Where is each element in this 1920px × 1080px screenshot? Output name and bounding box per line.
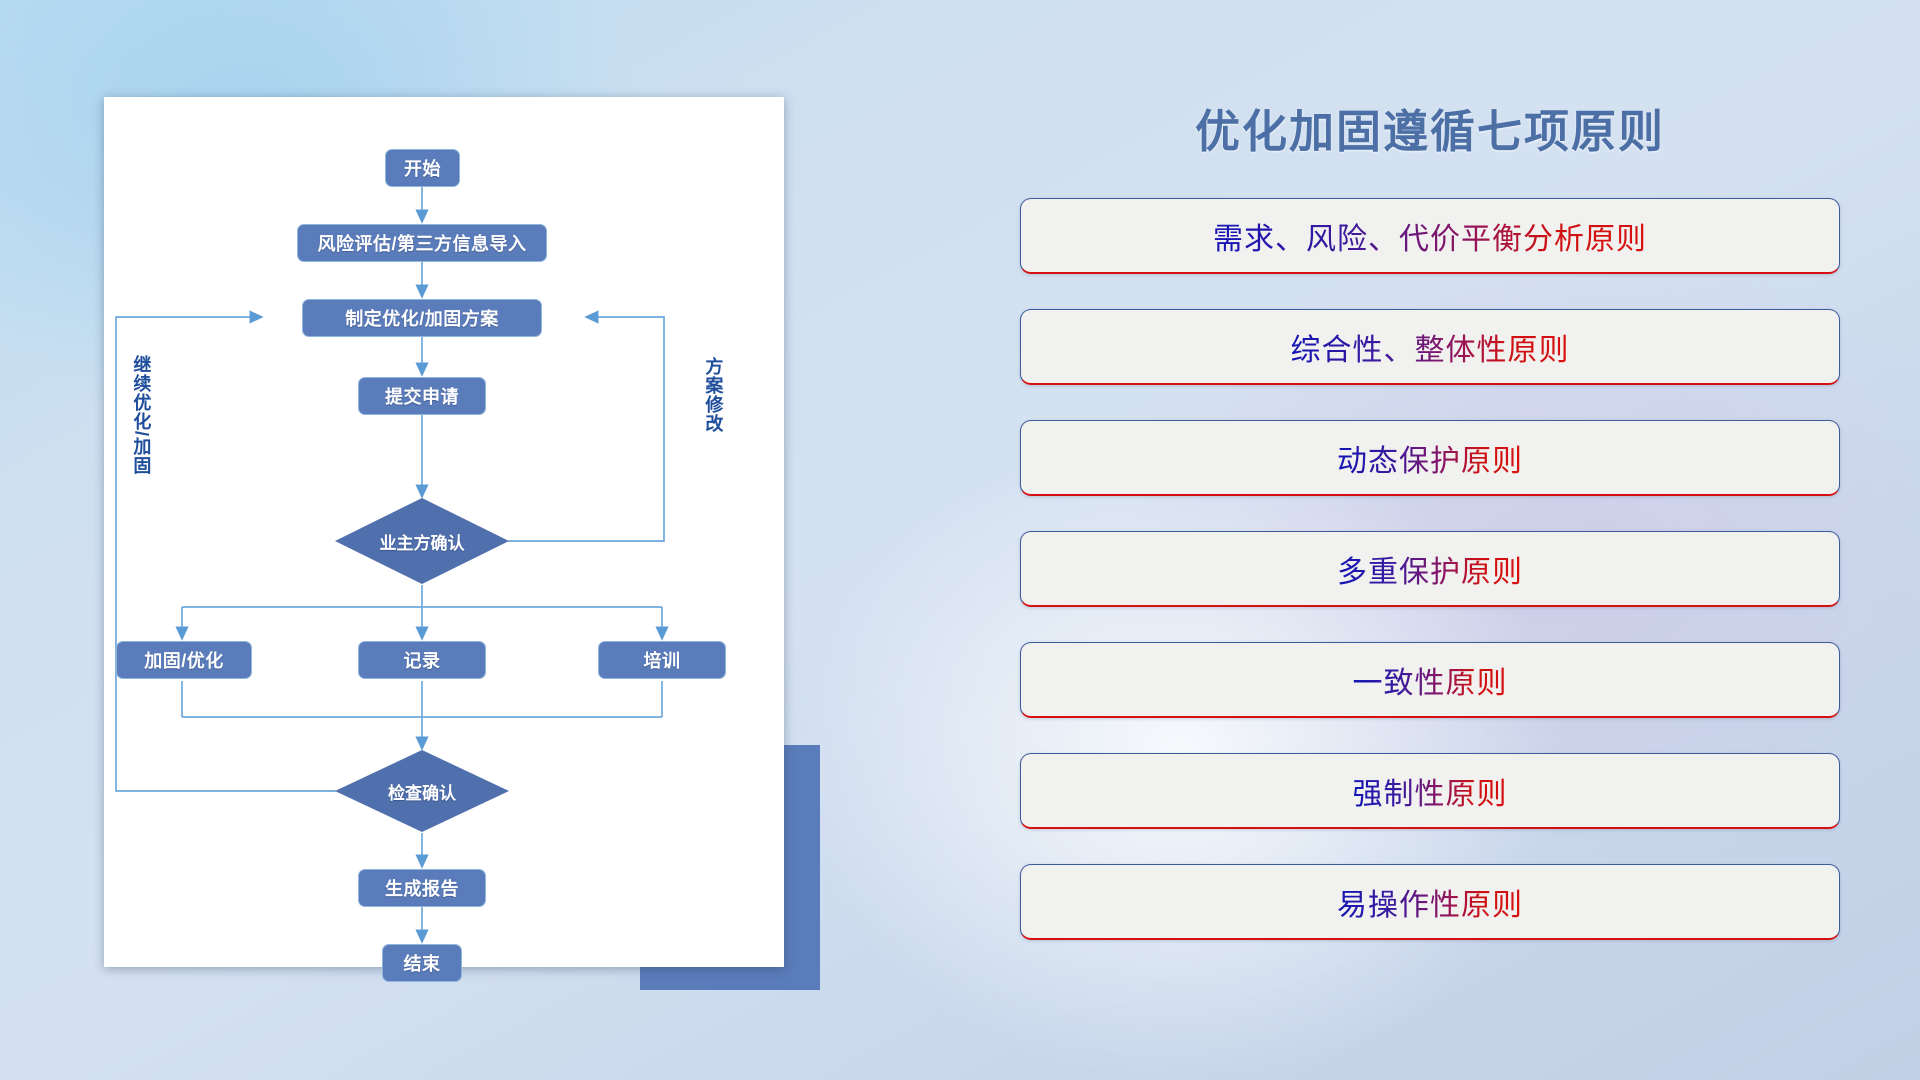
- flow-node-label: 结束: [404, 950, 441, 976]
- principle-label: 易操作性原则: [1337, 880, 1523, 924]
- flow-node-label: 制定优化/加固方案: [345, 305, 499, 331]
- flow-node-generate-report[interactable]: 生成报告: [358, 869, 486, 907]
- principle-label: 强制性原则: [1353, 769, 1508, 813]
- principle-item[interactable]: 多重保护原则: [1020, 531, 1840, 607]
- principle-label: 一致性原则: [1353, 658, 1508, 702]
- principles-pane: 优化加固遵循七项原则 需求、风险、代价平衡分析原则 综合性、整体性原则 动态保护…: [1020, 95, 1840, 1025]
- principle-label: 动态保护原则: [1337, 436, 1523, 480]
- diamond-shape: [334, 497, 510, 585]
- principle-item[interactable]: 动态保护原则: [1020, 420, 1840, 496]
- principle-item[interactable]: 强制性原则: [1020, 753, 1840, 829]
- flow-node-inspection-confirm[interactable]: 检查确认: [334, 749, 510, 833]
- slide-root: 开始 风险评估/第三方信息导入 制定优化/加固方案 提交申请 业主方确认 加固/…: [0, 0, 1920, 1080]
- principle-item[interactable]: 一致性原则: [1020, 642, 1840, 718]
- flow-node-label: 提交申请: [385, 383, 459, 409]
- principle-item[interactable]: 综合性、整体性原则: [1020, 309, 1840, 385]
- flow-node-risk-assessment[interactable]: 风险评估/第三方信息导入: [297, 224, 547, 262]
- principle-item[interactable]: 易操作性原则: [1020, 864, 1840, 940]
- flow-node-training[interactable]: 培训: [598, 641, 726, 679]
- flow-node-end[interactable]: 结束: [382, 944, 462, 982]
- flow-node-start[interactable]: 开始: [385, 149, 460, 187]
- principles-title: 优化加固遵循七项原则: [1020, 95, 1840, 160]
- flow-node-submit-application[interactable]: 提交申请: [358, 377, 486, 415]
- principle-label: 需求、风险、代价平衡分析原则: [1213, 214, 1647, 258]
- flow-node-owner-confirm[interactable]: 业主方确认: [334, 497, 510, 585]
- flow-node-label: 风险评估/第三方信息导入: [318, 230, 527, 256]
- flow-node-label: 生成报告: [385, 875, 459, 901]
- flow-node-record[interactable]: 记录: [358, 641, 486, 679]
- flow-node-label: 开始: [404, 155, 441, 181]
- flowchart-card: 开始 风险评估/第三方信息导入 制定优化/加固方案 提交申请 业主方确认 加固/…: [104, 97, 784, 967]
- flow-edge-label-continue-optimize: 继续优化/加固: [132, 355, 150, 525]
- flow-node-label: 加固/优化: [144, 647, 224, 673]
- principle-label: 综合性、整体性原则: [1291, 325, 1570, 369]
- diamond-shape: [334, 749, 510, 833]
- flow-node-label: 记录: [404, 647, 441, 673]
- principle-label: 多重保护原则: [1337, 547, 1523, 591]
- flow-node-label: 培训: [644, 647, 681, 673]
- flow-edge-label-plan-revision: 方案修改: [704, 357, 722, 507]
- flow-node-make-plan[interactable]: 制定优化/加固方案: [302, 299, 542, 337]
- flow-node-reinforce-optimize[interactable]: 加固/优化: [116, 641, 252, 679]
- principle-item[interactable]: 需求、风险、代价平衡分析原则: [1020, 198, 1840, 274]
